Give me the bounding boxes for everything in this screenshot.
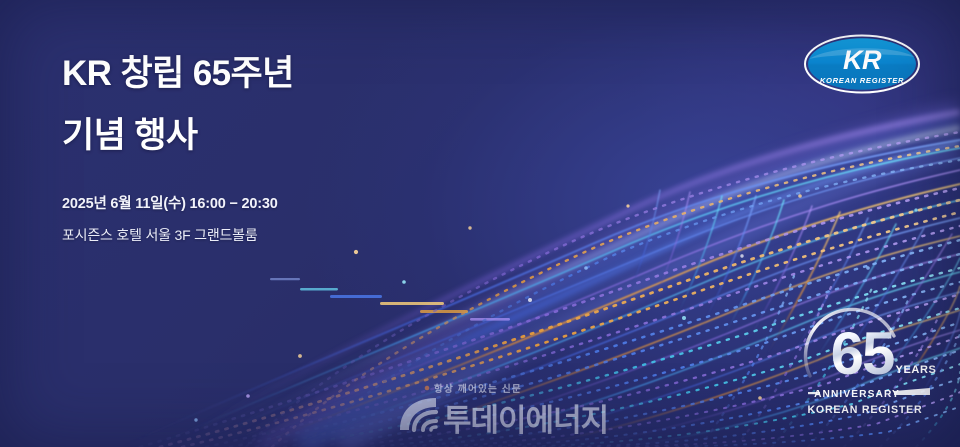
- watermark-tagline: 항상 깨어있는 신문: [434, 383, 522, 395]
- watermark-name: 투데이에너지: [443, 403, 608, 438]
- anniversary-label: ANNIVERSARY: [814, 389, 900, 400]
- event-details: 2025년 6월 11일(수) 16:00 − 20:30 포시즌스 호텔 서울…: [62, 197, 294, 242]
- headline-line-1: KR 창립 65주년: [62, 56, 294, 91]
- wave-swoosh-icon: [400, 398, 436, 430]
- anniversary-years-label: YEARS: [896, 364, 937, 376]
- headline-line-2: 기념 행사: [62, 118, 294, 153]
- anniversary-number: 65: [831, 320, 894, 387]
- kr-logo-subtitle: KOREAN REGISTER: [820, 76, 904, 85]
- kr-logo-mark: KR: [843, 45, 882, 75]
- press-watermark: 항상 깨어있는 신문 투데이에너지: [394, 374, 622, 440]
- kr-logo: KR KOREAN REGISTER: [803, 33, 921, 95]
- event-datetime: 2025년 6월 11일(수) 16:00 − 20:30: [62, 197, 294, 212]
- watermark-bullet-icon: [425, 386, 430, 391]
- event-text-block: KR 창립 65주년 기념 행사 2025년 6월 11일(수) 16:00 −…: [62, 56, 294, 242]
- anniversary-organization: KOREAN REGISTER: [807, 404, 922, 416]
- event-banner: KR 창립 65주년 기념 행사 2025년 6월 11일(수) 16:00 −…: [0, 0, 960, 447]
- anniversary-badge: 65 YEARS ANNIVERSARY KOREAN REGISTER: [790, 292, 940, 420]
- event-venue: 포시즌스 호텔 서울 3F 그랜드볼룸: [62, 228, 294, 242]
